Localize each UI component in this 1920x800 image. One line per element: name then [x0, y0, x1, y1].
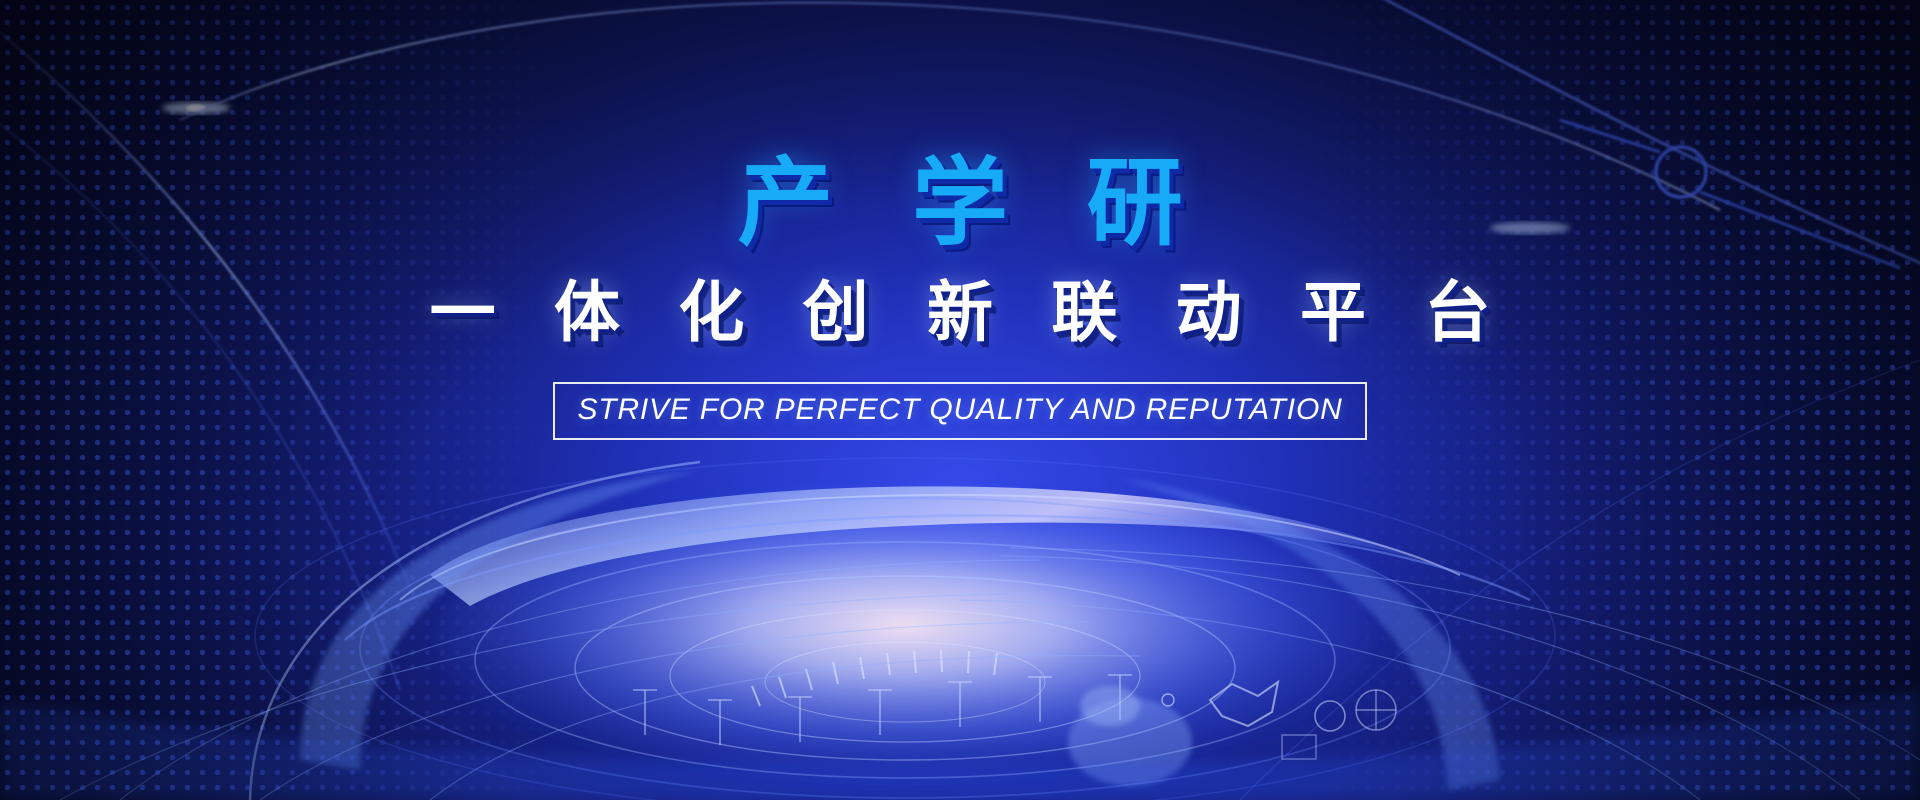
hud-globe-icon [0, 458, 1920, 800]
target-glyph-icon [1315, 701, 1345, 731]
hud-globe-layer [0, 0, 1920, 800]
hero-banner: 产 学 研 一 体 化 创 新 联 动 平 台 STRIVE FOR PERFE… [0, 0, 1920, 800]
hud-node-icon [1080, 686, 1140, 726]
